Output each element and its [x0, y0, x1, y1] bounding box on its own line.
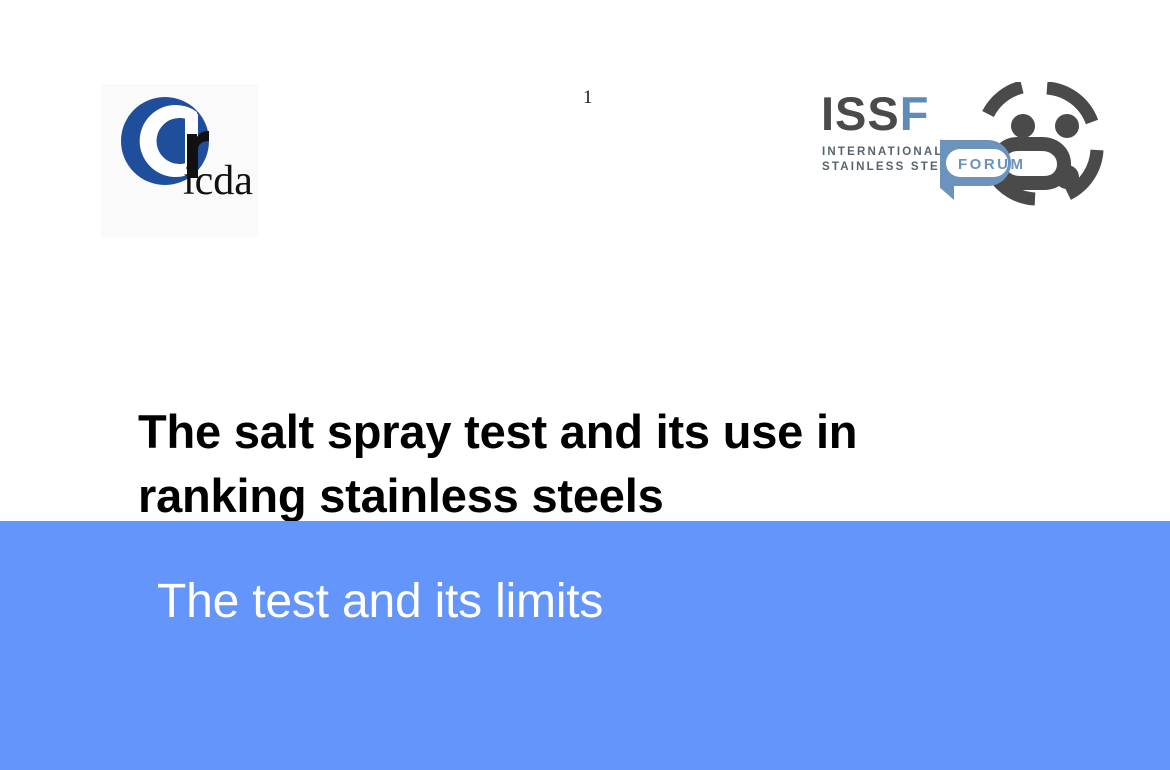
issf-emblem-icon: FORUM [940, 82, 1107, 206]
section-banner-title: The test and its limits [157, 573, 603, 631]
page-number: 1 [583, 88, 593, 107]
issf-wordmark: ISSF [821, 90, 929, 137]
issf-wordmark-accent: F [900, 87, 930, 140]
issf-logo: ISSF INTERNATIONAL STAINLESS STEEL FORUM [812, 84, 1107, 206]
slide-canvas: icda 1 ISSF INTERNATIONAL STAINLESS STEE… [0, 0, 1170, 770]
icda-logo: icda [101, 84, 258, 237]
issf-wordmark-dark: ISS [821, 87, 900, 140]
issf-emblem-dot-right [1055, 114, 1079, 138]
issf-subtitle: INTERNATIONAL STAINLESS STEEL [822, 145, 959, 175]
page-title: The salt spray test and its use in ranki… [138, 400, 1038, 528]
section-banner [0, 521, 1170, 770]
icda-wordmark: icda [183, 158, 253, 204]
issf-forum-label: FORUM [958, 156, 1026, 173]
icda-logo-graphic: icda [101, 84, 258, 237]
issf-emblem-dot-left [1011, 114, 1035, 138]
